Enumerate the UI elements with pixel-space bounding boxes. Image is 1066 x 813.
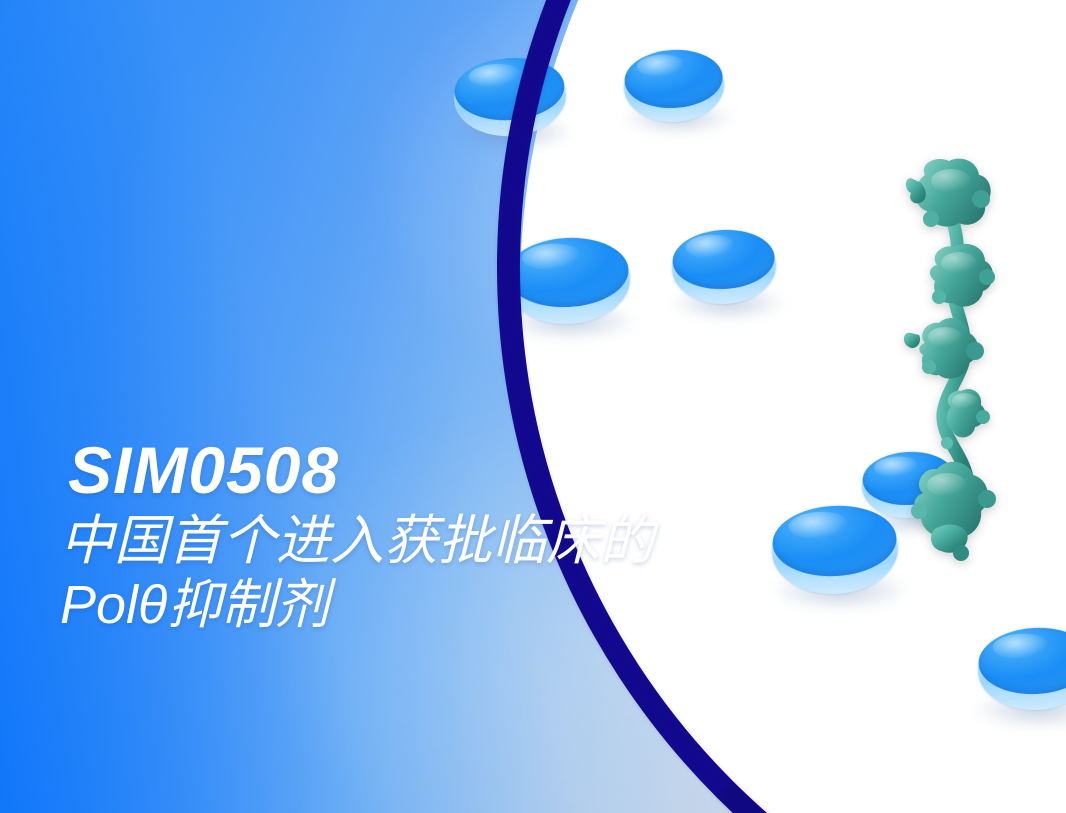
subtitle-line-2: Polθ抑制剂 <box>60 574 860 638</box>
page-title: SIM0508 <box>68 437 860 504</box>
subtitle: 中国首个进入获批临床的 Polθ抑制剂 <box>60 510 860 637</box>
protein-ribbon-structure <box>895 155 1066 570</box>
headline-block: SIM0508 中国首个进入获批临床的 Polθ抑制剂 <box>60 437 860 638</box>
subtitle-line-1: 中国首个进入获批临床的 <box>60 511 654 571</box>
poster-canvas: SIM0508 中国首个进入获批临床的 Polθ抑制剂 <box>0 0 1066 813</box>
